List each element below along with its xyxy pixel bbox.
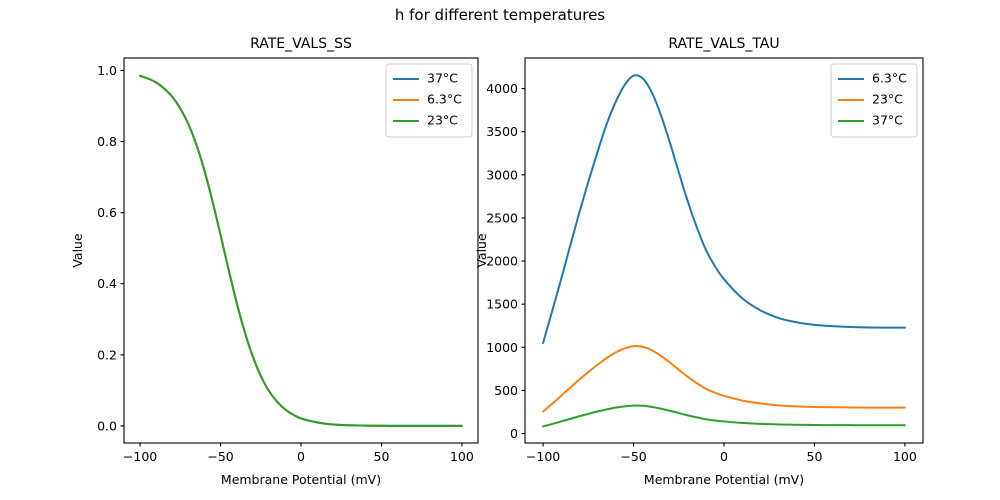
y-tick-label: 3000	[486, 167, 518, 182]
y-axis-label: Value	[70, 233, 85, 268]
y-tick-label: 4000	[486, 81, 518, 96]
legend[interactable]: 6.3°C23°C37°C	[831, 64, 917, 137]
y-tick-label: 2000	[486, 254, 518, 269]
axes-title: RATE_VALS_SS	[250, 36, 352, 52]
y-tick-label: 3500	[486, 124, 518, 139]
y-tick-label: 1500	[486, 297, 518, 312]
legend-label-3: 23°C	[427, 113, 458, 128]
legend-label-1: 6.3°C	[872, 71, 907, 86]
figure-canvas: RATE_VALS_SS−100−500501000.00.20.40.60.8…	[0, 0, 1000, 500]
y-tick-label: 2500	[486, 210, 518, 225]
x-axis-label: Membrane Potential (mV)	[644, 472, 804, 487]
legend-label-3: 37°C	[872, 113, 903, 128]
x-tick-label: −100	[526, 449, 560, 464]
y-tick-label: 0	[510, 426, 518, 441]
x-axis-label: Membrane Potential (mV)	[221, 472, 381, 487]
x-tick-label: −100	[123, 449, 157, 464]
y-tick-label: 0.8	[97, 134, 117, 149]
y-tick-label: 0.4	[97, 276, 117, 291]
matplotlib-figure: h for different temperatures RATE_VALS_S…	[0, 0, 1000, 500]
legend[interactable]: 37°C6.3°C23°C	[386, 64, 472, 137]
x-tick-label: 100	[893, 449, 917, 464]
x-tick-label: 0	[297, 449, 305, 464]
x-tick-label: 50	[374, 449, 390, 464]
axes-rate-vals-ss: RATE_VALS_SS−100−500501000.00.20.40.60.8…	[70, 36, 478, 487]
axes-rate-vals-tau: RATE_VALS_TAU−100−5005010005001000150020…	[474, 36, 923, 487]
series-line	[543, 346, 905, 412]
y-tick-label: 1000	[486, 340, 518, 355]
x-tick-label: −50	[207, 449, 233, 464]
y-tick-label: 0.6	[97, 205, 117, 220]
legend-label-2: 23°C	[872, 92, 903, 107]
x-tick-label: 100	[450, 449, 474, 464]
y-tick-label: 1.0	[97, 63, 117, 78]
y-tick-label: 500	[494, 383, 518, 398]
legend-label-1: 37°C	[427, 71, 458, 86]
axes-title: RATE_VALS_TAU	[668, 36, 779, 52]
legend-label-2: 6.3°C	[427, 92, 462, 107]
y-tick-label: 0.0	[97, 418, 117, 433]
y-axis-label: Value	[474, 233, 489, 268]
series-line	[543, 406, 905, 427]
x-tick-label: −50	[620, 449, 646, 464]
x-tick-label: 0	[720, 449, 728, 464]
x-tick-label: 50	[807, 449, 823, 464]
y-tick-label: 0.2	[97, 347, 117, 362]
